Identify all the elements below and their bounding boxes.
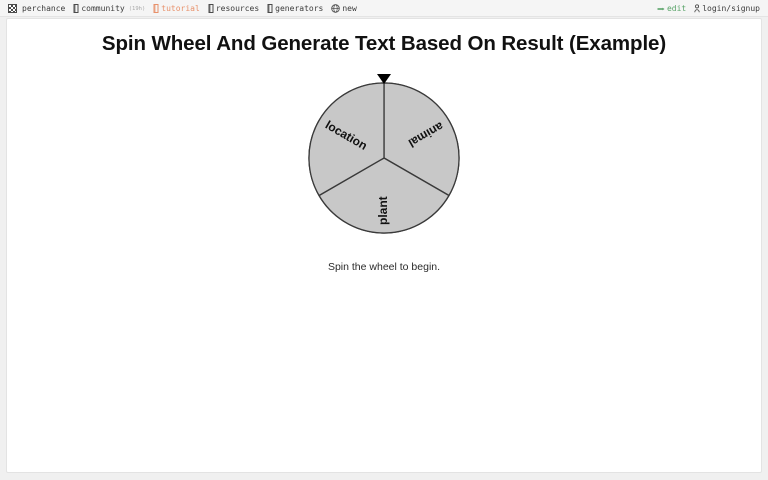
nav-item-perchance[interactable]: perchance [4, 0, 69, 17]
page-title: Spin Wheel And Generate Text Based On Re… [7, 19, 761, 56]
nav-item-label: new [342, 0, 356, 17]
nav-item-label: login/signup [702, 0, 760, 17]
globe-icon [331, 4, 340, 13]
wheel-area: animalplantlocation [7, 68, 761, 268]
nav-item-sublabel: (19h) [129, 1, 146, 18]
person-icon [694, 4, 700, 13]
nav-item-resources[interactable]: resources [204, 0, 263, 17]
spin-wheel-svg[interactable]: animalplantlocation [299, 68, 469, 243]
nav-item-label: generators [275, 0, 323, 17]
book-icon [73, 4, 79, 13]
nav-item-label: tutorial [161, 0, 200, 17]
nav-item-edit[interactable]: edit [653, 0, 690, 17]
nav-item-community[interactable]: community (19h) [69, 0, 149, 17]
book-icon [208, 4, 214, 13]
nav-item-label: edit [667, 0, 686, 17]
nav-item-label: resources [216, 0, 259, 17]
spin-wheel[interactable]: animalplantlocation [299, 68, 469, 243]
pencil-icon [657, 4, 665, 13]
nav-item-label: community [81, 0, 124, 17]
perchance-logo-icon [8, 4, 17, 13]
content-panel: Spin Wheel And Generate Text Based On Re… [6, 18, 762, 473]
nav-item-generators[interactable]: generators [263, 0, 327, 17]
nav-item-label: perchance [22, 0, 65, 17]
navbar-left-group: perchance community (19h) tutorial resou… [4, 0, 361, 17]
book-icon [153, 4, 159, 13]
nav-item-login-signup[interactable]: login/signup [690, 0, 764, 17]
wheel-segment-label: plant [376, 196, 390, 225]
top-navbar: perchance community (19h) tutorial resou… [0, 0, 768, 17]
navbar-right-group: edit login/signup [653, 0, 764, 17]
nav-item-tutorial[interactable]: tutorial [149, 0, 204, 17]
nav-item-new[interactable]: new [327, 0, 360, 17]
book-icon [267, 4, 273, 13]
